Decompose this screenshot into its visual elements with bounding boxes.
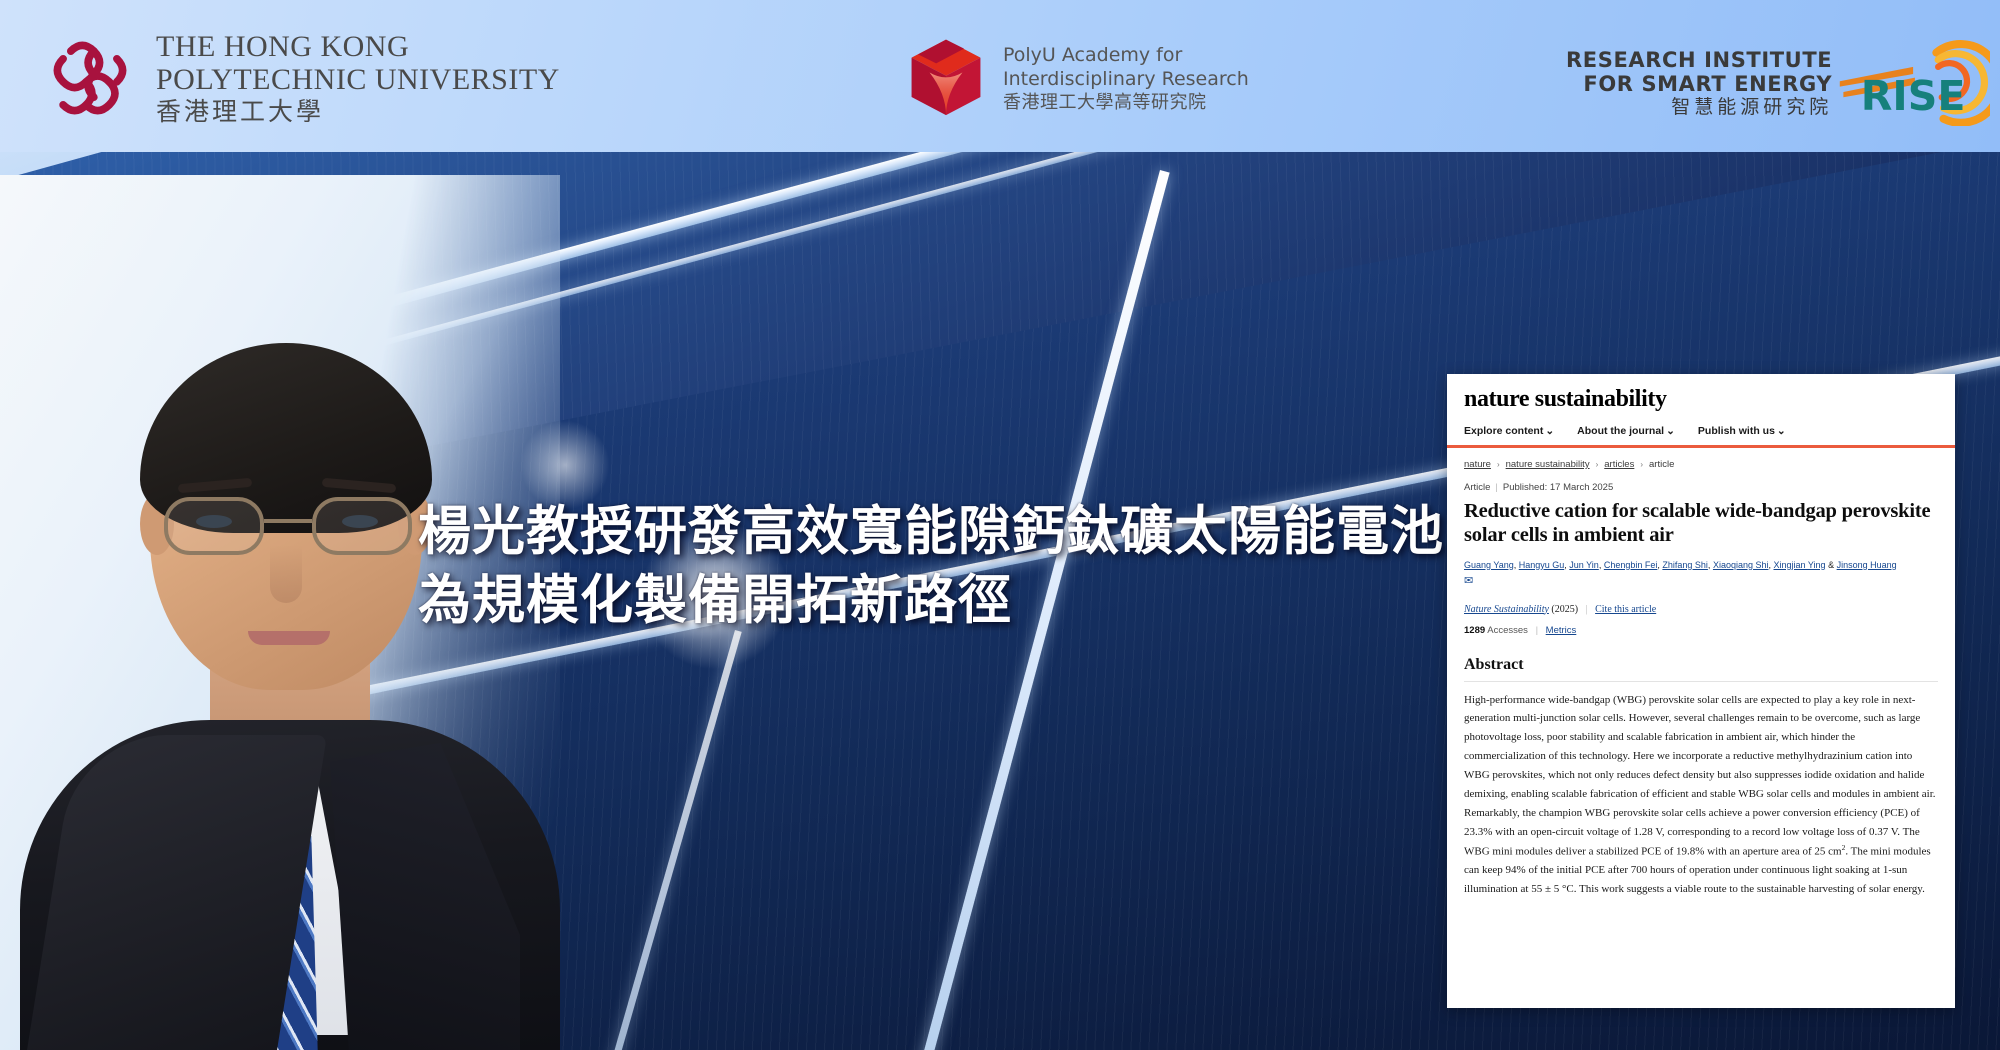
breadcrumb-item-nature-sustainability[interactable]: nature sustainability — [1506, 459, 1590, 470]
abstract-heading: Abstract — [1464, 656, 1938, 682]
chevron-down-icon: ⌄ — [1666, 425, 1675, 437]
breadcrumb: nature › nature sustainability › article… — [1447, 448, 1955, 476]
pair-cube-icon — [905, 36, 987, 122]
chevron-down-icon: ⌄ — [1777, 425, 1786, 437]
breadcrumb-item-nature[interactable]: nature — [1464, 459, 1491, 470]
pair-logo-text: PolyU Academy for Interdisciplinary Rese… — [1003, 44, 1249, 115]
polyu-logo-text: THE HONG KONG POLYTECHNIC UNIVERSITY 香港理… — [156, 32, 560, 124]
breadcrumb-separator: › — [1497, 460, 1500, 469]
rise-wordmark-icon: RISE — [1838, 40, 1990, 126]
eyeglass-lens-left — [164, 497, 264, 555]
author-link[interactable]: Zhifang Shi — [1662, 560, 1708, 570]
author-link[interactable]: Xingjian Ying — [1774, 560, 1826, 570]
polyu-chinese: 香港理工大學 — [156, 99, 560, 124]
abstract-part-1: High-performance wide-bandgap (WBG) pero… — [1464, 694, 1936, 858]
pair-logo: PolyU Academy for Interdisciplinary Rese… — [905, 36, 1249, 122]
card-body: Article|Published: 17 March 2025 Reducti… — [1447, 476, 1955, 899]
nav-item-explore-content[interactable]: Explore content⌄ — [1464, 425, 1554, 437]
journal-citation: Nature Sustainability (2025) | Cite this… — [1464, 604, 1938, 615]
author-link[interactable]: Jun Yin — [1569, 560, 1599, 570]
logo-row: THE HONG KONG POLYTECHNIC UNIVERSITY 香港理… — [0, 0, 2000, 152]
author-link[interactable]: Jinsong Huang — [1837, 560, 1897, 570]
rise-line2: FOR SMART ENERGY — [1583, 72, 1832, 96]
rise-line1: RESEARCH INSTITUTE — [1566, 48, 1832, 72]
envelope-icon[interactable]: ✉ — [1464, 573, 1473, 590]
author-link[interactable]: Guang Yang — [1464, 560, 1514, 570]
polyu-knot-icon — [42, 30, 138, 126]
author-link[interactable]: Hangyu Gu — [1519, 560, 1565, 570]
author-list: Guang Yang, Hangyu Gu, Jun Yin, Chengbin… — [1464, 559, 1938, 591]
article-type: Article — [1464, 482, 1490, 493]
breadcrumb-item-articles[interactable]: articles — [1604, 459, 1634, 470]
eyeglass-bridge — [264, 519, 312, 523]
rise-logo-text: RESEARCH INSTITUTE FOR SMART ENERGY 智慧能源… — [1566, 48, 1832, 119]
author-link[interactable]: Xiaoqiang Shi — [1713, 560, 1769, 570]
journal-name-italic: Nature Sustainability — [1464, 604, 1549, 615]
accesses-label: Accesses — [1487, 625, 1528, 636]
pair-line1: PolyU Academy for — [1003, 44, 1249, 68]
metrics-link[interactable]: Metrics — [1546, 625, 1577, 636]
rise-chinese: 智慧能源研究院 — [1671, 96, 1832, 118]
article-published-date: Published: 17 March 2025 — [1503, 482, 1613, 493]
article-meta: Article|Published: 17 March 2025 — [1464, 482, 1938, 493]
portrait-nose — [270, 545, 302, 603]
article-title: Reductive cation for scalable wide-bandg… — [1464, 500, 1938, 548]
author-link[interactable]: Chengbin Fei — [1604, 560, 1658, 570]
accesses-count: 1289 — [1464, 625, 1485, 636]
nature-article-card: nature sustainability Explore content⌄ A… — [1447, 374, 1955, 1008]
polyu-line1: THE HONG KONG — [156, 32, 560, 62]
pair-line2: Interdisciplinary Research — [1003, 68, 1249, 92]
eyeglass-lens-right — [312, 497, 412, 555]
polyu-line2: POLYTECHNIC UNIVERSITY — [156, 65, 560, 95]
journal-nav: Explore content⌄ About the journal⌄ Publ… — [1447, 420, 1955, 445]
breadcrumb-item-article: article — [1649, 459, 1674, 470]
rise-wordmark-label: RISE — [1861, 72, 1966, 120]
chevron-down-icon: ⌄ — [1545, 425, 1554, 437]
author-ampersand: & — [1828, 560, 1834, 570]
headline-line-2: 為規模化製備開拓新路徑 — [418, 567, 1458, 636]
pair-chinese: 香港理工大學高等研究院 — [1003, 92, 1249, 115]
polyu-logo: THE HONG KONG POLYTECHNIC UNIVERSITY 香港理… — [42, 30, 560, 126]
headline-line-1: 楊光教授研發高效寬能隙鈣鈦礦太陽能電池 — [418, 498, 1458, 567]
breadcrumb-separator: › — [1596, 460, 1599, 469]
card-masthead-area: nature sustainability — [1447, 374, 1955, 420]
portrait-mouth — [248, 631, 330, 645]
cite-this-article-link[interactable]: Cite this article — [1595, 604, 1656, 615]
nature-sustainability-masthead[interactable]: nature sustainability — [1464, 386, 1938, 413]
logo-header-band: THE HONG KONG POLYTECHNIC UNIVERSITY 香港理… — [0, 0, 2000, 152]
rise-logo: RESEARCH INSTITUTE FOR SMART ENERGY 智慧能源… — [1566, 40, 1990, 126]
access-metrics: 1289 Accesses | Metrics — [1464, 625, 1938, 636]
abstract-text: High-performance wide-bandgap (WBG) pero… — [1464, 691, 1938, 900]
nav-item-publish-with-us[interactable]: Publish with us⌄ — [1698, 425, 1786, 437]
headline: 楊光教授研發高效寬能隙鈣鈦礦太陽能電池 為規模化製備開拓新路徑 — [418, 498, 1458, 636]
journal-year: (2025) — [1551, 604, 1578, 615]
breadcrumb-separator: › — [1640, 460, 1643, 469]
nav-item-about-the-journal[interactable]: About the journal⌄ — [1577, 425, 1675, 437]
journal-name-link[interactable]: Nature Sustainability — [1464, 604, 1549, 615]
poster-stage: THE HONG KONG POLYTECHNIC UNIVERSITY 香港理… — [0, 0, 2000, 1050]
